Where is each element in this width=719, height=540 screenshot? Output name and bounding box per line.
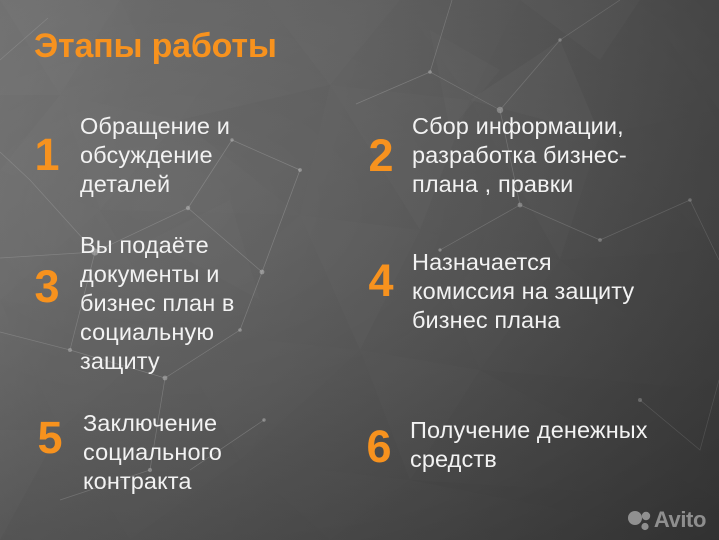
page-title: Этапы работы — [34, 27, 277, 66]
step-label: Вы подаёте документы и бизнес план в соц… — [80, 231, 280, 376]
step-label: Получение денежных средств — [410, 416, 710, 474]
step-item-3: 3 Вы подаёте документы и бизнес план в с… — [30, 231, 280, 376]
avito-watermark-label: Avito — [654, 509, 706, 531]
slide-content: Этапы работы 1 Обращение и обсуждение де… — [0, 0, 719, 540]
step-label: Заключение социального контракта — [83, 409, 283, 496]
presentation-slide: Этапы работы 1 Обращение и обсуждение де… — [0, 0, 719, 540]
step-number: 3 — [30, 264, 64, 309]
avito-dots-icon — [627, 510, 651, 531]
step-label: Сбор информации, разработка бизнес-плана… — [412, 112, 684, 199]
step-number: 6 — [362, 424, 396, 469]
step-item-6: 6 Получение денежных средств — [362, 416, 710, 474]
step-number: 5 — [33, 415, 67, 460]
step-item-5: 5 Заключение социального контракта — [33, 409, 283, 496]
step-item-1: 1 Обращение и обсуждение деталей — [30, 112, 296, 199]
step-item-2: 2 Сбор информации, разработка бизнес-пла… — [364, 112, 684, 199]
step-number: 2 — [364, 133, 398, 178]
step-label: Обращение и обсуждение деталей — [80, 112, 296, 199]
step-number: 1 — [30, 132, 64, 177]
step-number: 4 — [364, 258, 398, 303]
step-item-4: 4 Назначается комиссия на защиту бизнес … — [364, 248, 640, 335]
avito-watermark: Avito — [627, 509, 706, 531]
step-label: Назначается комиссия на защиту бизнес пл… — [412, 248, 640, 335]
